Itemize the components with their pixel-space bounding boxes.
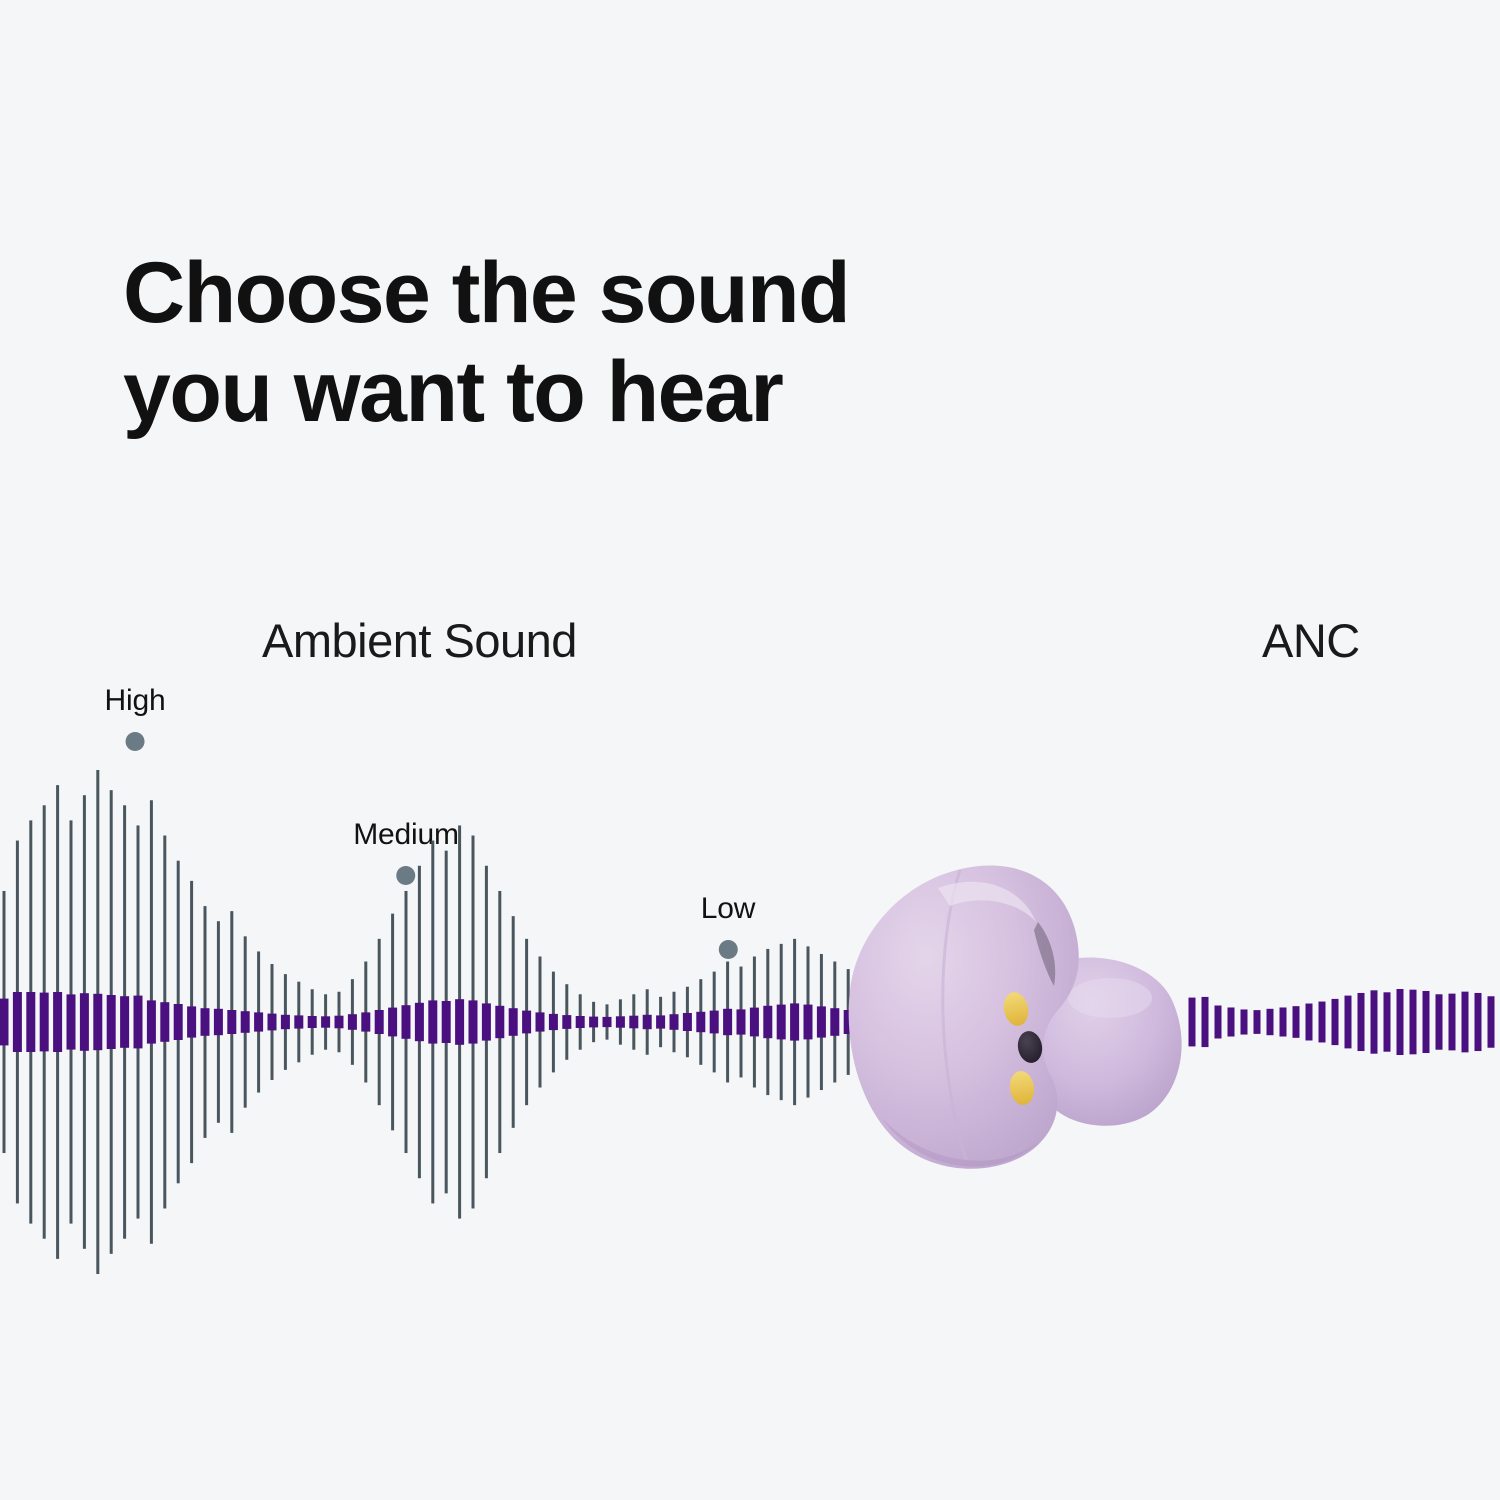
ambient-signal-bar [522, 1011, 531, 1034]
ambient-grey-line [673, 992, 676, 1052]
ambient-grey-line [297, 982, 300, 1063]
level-marker-low: Low [701, 894, 755, 959]
anc-signal-bar [1410, 990, 1417, 1055]
ambient-grey-line [96, 770, 99, 1274]
ambient-grey-line [137, 825, 140, 1218]
ambient-grey-line [29, 820, 32, 1223]
anc-signal-bar [1436, 994, 1443, 1049]
anc-signal-bar [1449, 994, 1456, 1051]
ambient-signal-bar [40, 993, 49, 1052]
ambient-signal-bar [656, 1015, 665, 1028]
ambient-signal-bar [53, 992, 62, 1052]
infographic-canvas: Choose the sound you want to hear Ambien… [0, 0, 1500, 1500]
ambient-signal-bar [790, 1003, 799, 1040]
anc-signal-bar [1319, 1002, 1326, 1043]
earbud-tip-highlight [1068, 978, 1152, 1018]
ambient-grey-line [56, 785, 59, 1259]
ambient-grey-line [699, 979, 702, 1065]
ambient-grey-line [204, 906, 207, 1138]
ambient-signal-bar [268, 1014, 277, 1031]
ambient-signal-bar [455, 999, 464, 1045]
ambient-grey-line [378, 939, 381, 1105]
ambient-signal-bar [388, 1008, 397, 1037]
ambient-grey-line [686, 987, 689, 1058]
anc-signal-bar [1488, 996, 1495, 1047]
ambient-signal-bar [93, 994, 102, 1050]
waveform-ambient-sound [0, 770, 933, 1274]
ambient-grey-line [766, 949, 769, 1095]
ambient-signal-bar [294, 1015, 303, 1028]
level-marker-dot [126, 732, 145, 751]
ambient-grey-line [713, 972, 716, 1073]
anc-signal-bar [1202, 997, 1209, 1047]
ambient-signal-bar [134, 996, 143, 1049]
ambient-signal-bar [696, 1012, 705, 1032]
ambient-grey-line [177, 861, 180, 1184]
anc-signal-bar [1397, 989, 1404, 1055]
ambient-signal-bar [361, 1012, 370, 1031]
ambient-signal-bar [482, 1003, 491, 1040]
ambient-grey-line [43, 805, 46, 1238]
ambient-grey-line [579, 994, 582, 1049]
anc-signal-bar [1293, 1006, 1300, 1038]
ambient-grey-line [445, 851, 448, 1194]
anc-signal-bar [1280, 1007, 1287, 1036]
ambient-signal-bar [67, 994, 76, 1049]
ambient-grey-line [418, 866, 421, 1178]
ambient-grey-line [498, 891, 501, 1153]
anc-signal-bar [1228, 1007, 1235, 1036]
ambient-signal-bar [723, 1009, 732, 1035]
ambient-signal-bar [670, 1014, 679, 1030]
ambient-signal-bar [469, 1000, 478, 1043]
level-marker-dot [397, 866, 416, 885]
ambient-grey-line [217, 921, 220, 1123]
level-marker-medium: Medium [353, 820, 459, 885]
ambient-grey-line [284, 974, 287, 1070]
ambient-signal-bar [415, 1003, 424, 1041]
ambient-grey-line [539, 956, 542, 1087]
ambient-grey-line [646, 989, 649, 1055]
anc-signal-bar [1332, 999, 1339, 1045]
ambient-signal-bar [562, 1015, 571, 1029]
ambient-signal-bar [147, 1000, 156, 1043]
level-marker-label: Medium [353, 820, 459, 850]
anc-signal-bar [1358, 993, 1365, 1051]
ambient-signal-bar [348, 1014, 357, 1030]
ambient-grey-line [525, 939, 528, 1105]
ambient-grey-line [552, 972, 555, 1073]
ambient-signal-bar [26, 992, 35, 1052]
ambient-signal-bar [616, 1016, 625, 1027]
ambient-grey-line [244, 936, 247, 1107]
page-title: Choose the sound you want to hear [123, 244, 1123, 444]
ambient-signal-bar [804, 1005, 813, 1040]
anc-signal-bar [1241, 1009, 1248, 1034]
ambient-grey-line [351, 979, 354, 1065]
anc-signal-bar [1267, 1009, 1274, 1035]
ambient-signal-bar [817, 1006, 826, 1037]
ambient-signal-bar [763, 1006, 772, 1038]
anc-signal-bar [1475, 993, 1482, 1051]
ambient-grey-line [807, 946, 810, 1097]
ambient-grey-line [512, 916, 515, 1128]
level-marker-label: High [105, 686, 166, 716]
ambient-signal-bar [589, 1017, 598, 1028]
ambient-grey-line [753, 956, 756, 1087]
ambient-grey-line [740, 967, 743, 1078]
ambient-signal-bar [830, 1008, 839, 1036]
ambient-signal-bar [750, 1008, 759, 1037]
ambient-grey-line [833, 962, 836, 1083]
ambient-grey-line [820, 954, 823, 1090]
ambient-grey-line [485, 866, 488, 1178]
anc-signal-bar [1423, 991, 1430, 1053]
earbud-body [849, 866, 1079, 1169]
ambient-signal-bar [214, 1009, 223, 1035]
ambient-grey-line [592, 1002, 595, 1042]
ambient-signal-bar [629, 1016, 638, 1029]
ambient-grey-line [83, 795, 86, 1249]
ambient-grey-line [793, 939, 796, 1105]
ambient-grey-line [163, 836, 166, 1209]
ambient-grey-line [606, 1004, 609, 1039]
level-marker-label: Low [701, 894, 755, 924]
ambient-grey-line [311, 989, 314, 1055]
ambient-signal-bar [241, 1011, 250, 1033]
ambient-grey-line [632, 994, 635, 1049]
ambient-signal-bar [737, 1009, 746, 1034]
ambient-grey-line [3, 891, 6, 1153]
earbud-product-image [842, 848, 1194, 1196]
ambient-signal-bar [120, 996, 129, 1048]
ambient-grey-line [659, 997, 662, 1047]
ambient-grey-line [619, 999, 622, 1044]
ambient-grey-line [324, 994, 327, 1049]
ambient-grey-line [123, 805, 126, 1238]
audio-waveform-chart [0, 0, 1500, 1500]
ambient-signal-bar [576, 1016, 585, 1028]
ambient-signal-bar [321, 1016, 330, 1027]
ambient-grey-line [70, 820, 73, 1223]
ambient-signal-bar [174, 1004, 183, 1040]
ambient-signal-bar [0, 999, 9, 1046]
anc-signal-bar [1215, 1006, 1222, 1039]
ambient-signal-bar [160, 1002, 169, 1042]
ambient-signal-bar [335, 1016, 344, 1029]
ambient-signal-bar [402, 1005, 411, 1039]
ambient-signal-bar [509, 1008, 518, 1036]
ambient-grey-line [190, 881, 193, 1163]
ambient-signal-bar [603, 1017, 612, 1027]
ambient-signal-bar [777, 1005, 786, 1040]
level-marker-dot [719, 940, 738, 959]
ambient-signal-bar [13, 992, 22, 1052]
ambient-grey-line [271, 964, 274, 1080]
ambient-signal-bar [308, 1016, 317, 1028]
anc-signal-bar [1384, 992, 1391, 1051]
ambient-signal-bar [643, 1015, 652, 1029]
ambient-signal-bar [187, 1006, 196, 1037]
ambient-grey-line [780, 944, 783, 1100]
section-label-anc: ANC [1262, 613, 1360, 668]
anc-signal-bar [1254, 1010, 1261, 1034]
ambient-signal-bar [536, 1012, 545, 1031]
level-marker-high: High [105, 686, 166, 751]
ambient-signal-bar [80, 993, 89, 1051]
ambient-grey-line [150, 800, 153, 1244]
ambient-grey-line [364, 962, 367, 1083]
ambient-signal-bar [201, 1008, 210, 1036]
section-label-ambient-sound: Ambient Sound [262, 613, 577, 668]
ambient-grey-line [230, 911, 233, 1133]
ambient-signal-bar [428, 1000, 437, 1043]
ambient-grey-line [472, 836, 475, 1209]
ambient-grey-line [110, 790, 113, 1254]
anc-signal-bar [1462, 992, 1469, 1053]
ambient-signal-bar [495, 1006, 504, 1038]
ambient-grey-line [726, 962, 729, 1083]
ambient-signal-bar [254, 1012, 263, 1031]
ambient-signal-bar [710, 1011, 719, 1034]
ambient-signal-bar [683, 1013, 692, 1031]
anc-signal-bar [1371, 990, 1378, 1053]
ambient-signal-bar [107, 995, 116, 1049]
ambient-signal-bar [281, 1015, 290, 1029]
anc-signal-bar [1306, 1004, 1313, 1041]
ambient-signal-bar [227, 1010, 236, 1034]
ambient-signal-bar [375, 1010, 384, 1034]
ambient-grey-line [16, 841, 19, 1204]
ambient-grey-line [257, 951, 260, 1092]
ambient-signal-bar [442, 1001, 451, 1043]
anc-signal-bar [1345, 996, 1352, 1049]
ambient-grey-line [431, 841, 434, 1204]
ambient-grey-line [338, 992, 341, 1052]
waveform-anc [1189, 989, 1495, 1055]
ambient-grey-line [391, 914, 394, 1131]
ambient-grey-line [565, 984, 568, 1060]
ambient-signal-bar [549, 1014, 558, 1030]
ambient-grey-line [405, 891, 408, 1153]
